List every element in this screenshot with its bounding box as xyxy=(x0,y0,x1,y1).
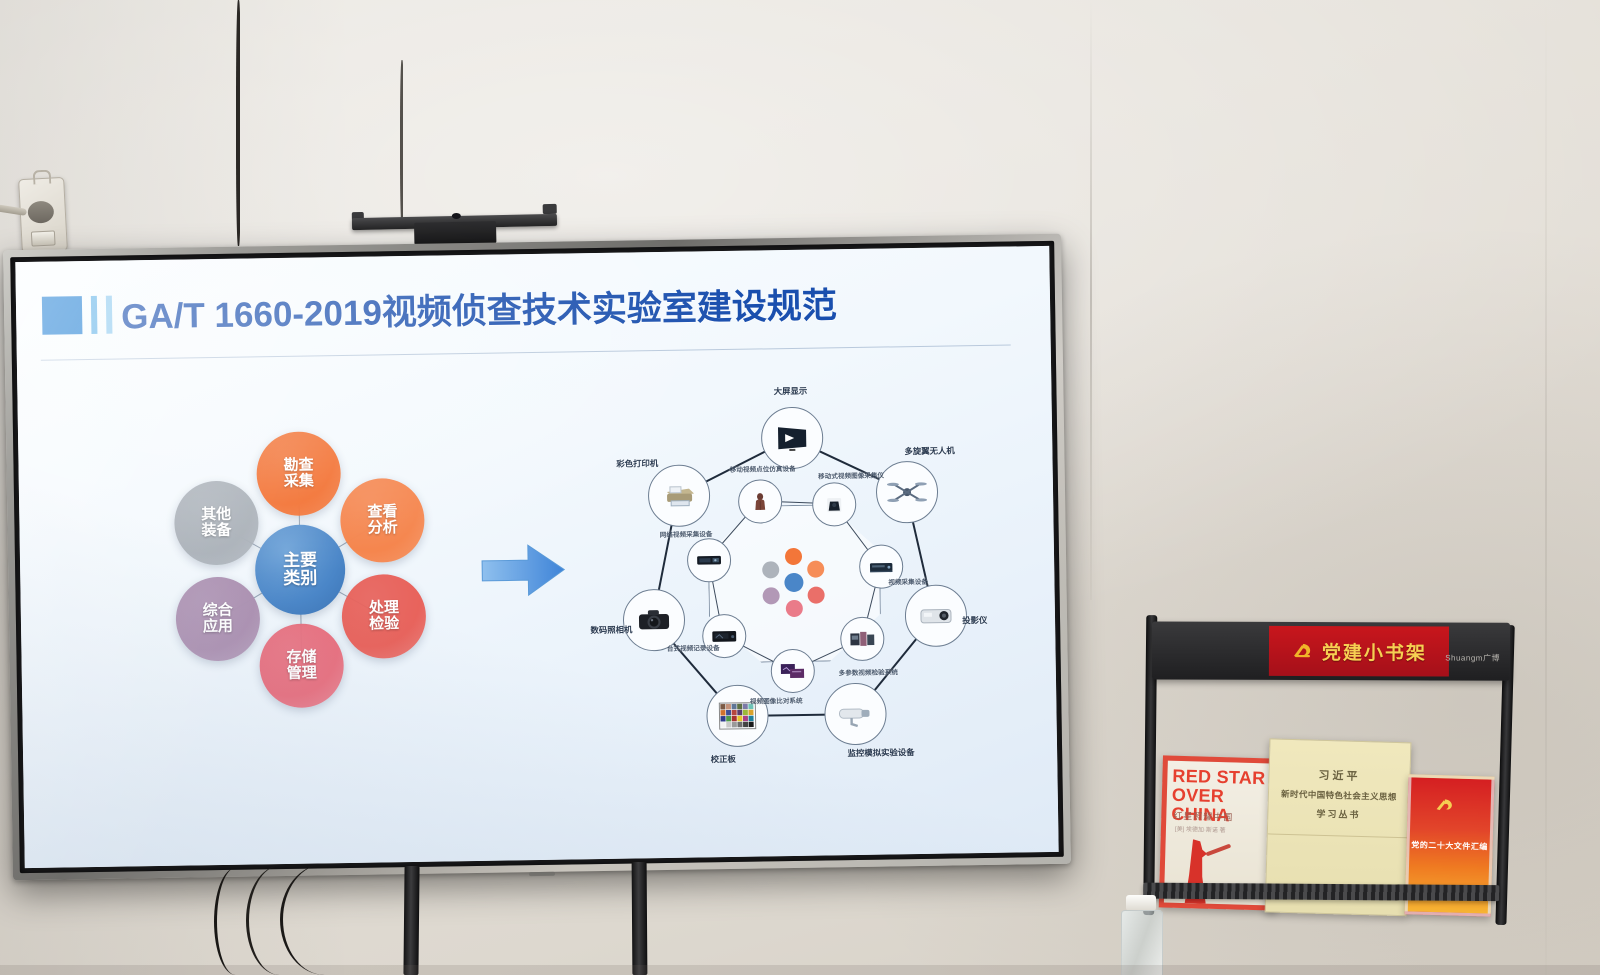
bottle-cap xyxy=(1126,895,1156,911)
shelf-banner: 党建小书架 xyxy=(1269,626,1449,677)
party-emblem-icon xyxy=(1434,796,1456,815)
wall-cable xyxy=(236,0,241,246)
outlet-socket-icon xyxy=(27,200,54,223)
slide-title: GA/T 1660-2019视频侦查技术实验室建设规范 xyxy=(121,277,837,339)
book-line-3: 学习丛书 xyxy=(1268,805,1408,822)
device-label-outer-0: 大屏显示 xyxy=(774,385,808,398)
accent-bar-icon xyxy=(106,295,113,333)
mini-hub-node-3 xyxy=(785,599,802,616)
party-bookshelf[interactable]: 党建小书架 Shuangm广博 RED STAR OVER CHINA 红星照耀… xyxy=(1135,607,1517,975)
book-byline: [美] 埃德加·斯诺 著 xyxy=(1175,824,1226,834)
compare-system-icon xyxy=(779,661,807,681)
capture-box-icon xyxy=(867,556,895,576)
video-conference-camera xyxy=(352,210,557,236)
hub-node-4[interactable]: 综合应用 xyxy=(175,576,260,661)
mini-hub-node-2 xyxy=(808,586,825,603)
hub-node-label: 处理 xyxy=(369,600,399,616)
mini-hub-node-1 xyxy=(807,560,824,577)
book-line-2: 新时代中国特色社会主义思想 xyxy=(1269,787,1409,803)
wall-seam xyxy=(1545,0,1547,975)
book-title: 党的二十大文件汇编 xyxy=(1409,839,1489,852)
camera-bracket xyxy=(414,221,496,245)
device-node-outer-2[interactable] xyxy=(904,584,967,647)
presentation-slide: GA/T 1660-2019视频侦查技术实验室建设规范 勘查采集查看分析处理检验… xyxy=(15,246,1058,868)
outlet-switch[interactable] xyxy=(31,230,56,246)
device-node-outer-0[interactable] xyxy=(761,406,824,469)
camera-mount-right xyxy=(543,204,557,214)
shelf-brand-mark: Shuangm广博 xyxy=(1445,652,1500,663)
header-divider xyxy=(41,345,1011,361)
book-cover-horn-icon xyxy=(1205,844,1231,857)
right-device-ring-diagram: 大屏显示多旋翼无人机投影仪监控模拟实验设备校正板数码照相机彩色打印机移动视频点位… xyxy=(588,407,1013,744)
device-label-outer-2: 投影仪 xyxy=(962,614,987,626)
tv-screen-icon xyxy=(772,424,812,453)
mini-hub-node-4 xyxy=(762,587,779,604)
projector-icon xyxy=(915,602,955,631)
hub-center-label: 主要 xyxy=(283,552,317,570)
tv-bezel: GA/T 1660-2019视频侦查技术实验室建设规范 勘查采集查看分析处理检验… xyxy=(3,234,1071,881)
hub-node-label: 采集 xyxy=(284,473,314,489)
tv-brand-logo xyxy=(529,872,555,876)
device-label-outer-3: 监控模拟实验设备 xyxy=(848,747,915,760)
bullet-camera-icon xyxy=(835,700,875,729)
hub-node-label: 勘查 xyxy=(283,458,313,474)
device-label-outer-6: 彩色打印机 xyxy=(616,457,658,470)
dslr-camera-icon xyxy=(634,606,674,635)
wall-cable xyxy=(400,60,404,225)
mini-hub-center xyxy=(784,572,803,591)
left-hub-diagram: 勘查采集查看分析处理检验存储管理综合应用其他装备主要类别 xyxy=(148,417,453,722)
hub-node-2[interactable]: 处理检验 xyxy=(341,574,426,659)
hub-node-label: 综合 xyxy=(203,603,233,619)
device-label-inner-6: 网络视频采集设备 xyxy=(660,528,713,539)
book-edge-line xyxy=(1268,833,1408,838)
hub-node-5[interactable]: 其他装备 xyxy=(174,480,259,565)
device-node-outer-1[interactable] xyxy=(876,460,939,523)
hub-node-0[interactable]: 勘查采集 xyxy=(256,431,341,516)
hub-node-1[interactable]: 查看分析 xyxy=(340,478,425,563)
mini-hub-node-0 xyxy=(784,547,801,564)
flow-arrow-icon xyxy=(480,542,567,599)
slide-header: GA/T 1660-2019视频侦查技术实验室建设规范 xyxy=(42,277,837,340)
hub-center-node[interactable]: 主要类别 xyxy=(254,524,345,615)
tv-inner-bezel: GA/T 1660-2019视频侦查技术实验室建设规范 勘查采集查看分析处理检验… xyxy=(10,241,1064,873)
hub-node-3[interactable]: 存储管理 xyxy=(259,623,344,708)
mannequin-icon xyxy=(746,492,774,512)
hub-node-label: 查看 xyxy=(367,504,397,520)
device-label-outer-4: 校正板 xyxy=(711,753,736,765)
floor-shadow xyxy=(0,965,1600,975)
tv-screen[interactable]: GA/T 1660-2019视频侦查技术实验室建设规范 勘查采集查看分析处理检验… xyxy=(15,246,1058,868)
device-label-inner-3: 多参数视频检验系统 xyxy=(838,666,897,677)
device-node-outer-6[interactable] xyxy=(647,464,710,527)
device-node-inner-4[interactable] xyxy=(770,649,815,694)
device-label-inner-1: 移动式视频图像采集仪 xyxy=(818,470,884,481)
accent-bar-icon xyxy=(42,296,83,335)
device-label-inner-4: 视频图像比对系统 xyxy=(750,695,803,706)
multi-param-icon xyxy=(849,628,877,648)
hub-node-label: 分析 xyxy=(368,520,398,536)
hub-node-label: 存储 xyxy=(286,650,316,666)
wall-power-outlet[interactable] xyxy=(18,177,68,253)
shelf-front-rail xyxy=(1143,883,1499,901)
accent-bar-icon xyxy=(91,295,98,333)
hub-node-label: 检验 xyxy=(369,616,399,632)
tv-stand-post xyxy=(632,862,648,975)
tv-power-cable xyxy=(280,864,369,975)
device-label-inner-5: 台式视频记录设备 xyxy=(667,642,720,653)
hub-node-label: 应用 xyxy=(203,619,233,635)
printer-icon xyxy=(659,481,699,510)
device-node-inner-3[interactable] xyxy=(840,616,885,661)
wall-mounted-tv[interactable]: GA/T 1660-2019视频侦查技术实验室建设规范 勘查采集查看分析处理检验… xyxy=(3,234,1071,881)
device-node-outer-3[interactable] xyxy=(824,683,887,746)
book-title-cn: 红星照耀中国 xyxy=(1173,809,1233,824)
device-label-outer-1: 多旋翼无人机 xyxy=(904,444,954,457)
water-bottle[interactable] xyxy=(1120,895,1162,975)
shelf-banner-text: 党建小书架 xyxy=(1322,638,1427,665)
device-node-outer-4[interactable] xyxy=(706,685,769,748)
drone-icon xyxy=(887,478,927,507)
shelf-header-board: 党建小书架 Shuangm广博 xyxy=(1152,621,1510,680)
network-capture-icon xyxy=(695,550,723,570)
device-node-inner-1[interactable] xyxy=(812,482,857,527)
outlet-hook-icon xyxy=(33,170,52,185)
device-label-inner-0: 移动视频点位仿真设备 xyxy=(730,463,796,474)
color-checker-icon xyxy=(717,702,757,731)
tv-stand-post xyxy=(403,866,419,975)
hub-node-label: 装备 xyxy=(201,523,231,539)
party-emblem-icon xyxy=(1291,641,1315,661)
wall-seam xyxy=(1090,0,1092,600)
hub-node-label: 管理 xyxy=(287,665,317,681)
device-label-outer-5: 数码照相机 xyxy=(590,624,632,637)
device-label-inner-2: 视频采集设备 xyxy=(888,576,928,587)
hub-node-label: 其他 xyxy=(201,507,231,523)
hub-center-label: 类别 xyxy=(283,569,317,587)
mobile-capture-icon xyxy=(820,494,848,514)
mini-hub-node-5 xyxy=(762,561,779,578)
book-line-1: 习近平 xyxy=(1269,765,1409,785)
room-scene: GA/T 1660-2019视频侦查技术实验室建设规范 勘查采集查看分析处理检验… xyxy=(0,0,1600,975)
